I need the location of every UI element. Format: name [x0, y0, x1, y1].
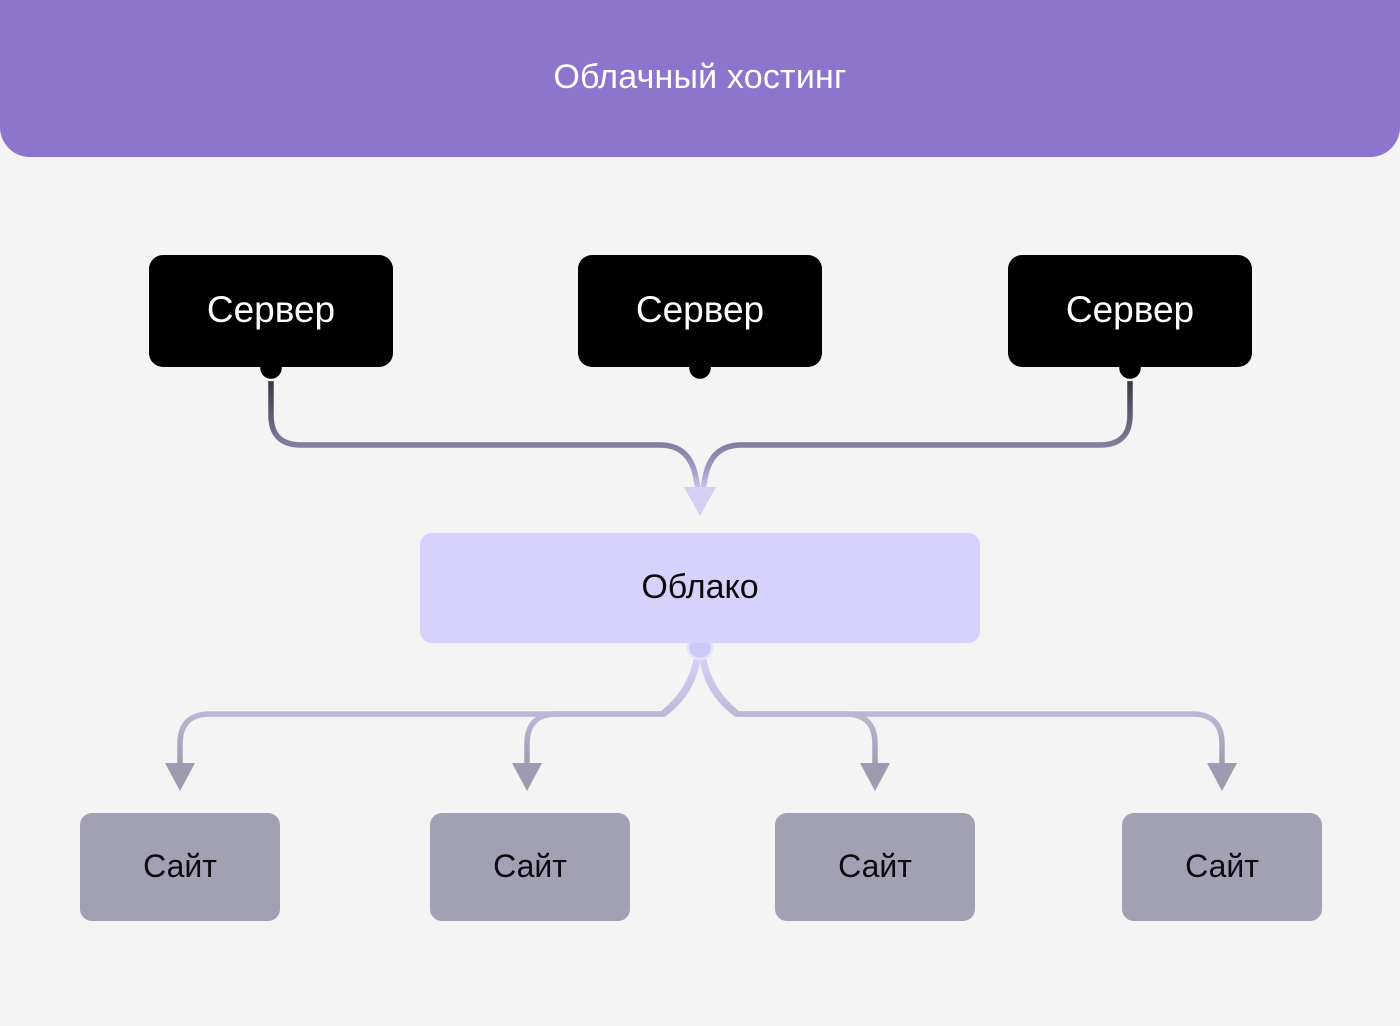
site-node-1-label: Сайт — [143, 850, 217, 885]
site-node-3-label: Сайт — [838, 850, 912, 885]
server-node-2-label: Сервер — [636, 291, 764, 331]
site-node-4-label: Сайт — [1185, 850, 1259, 885]
server-node-3[interactable]: Сервер — [1008, 255, 1252, 367]
cloud-node-label: Облако — [641, 570, 758, 607]
site-node-2-label: Сайт — [493, 850, 567, 885]
edge-server-3-to-cloud — [702, 369, 1130, 494]
server-node-2[interactable]: Сервер — [578, 255, 822, 367]
site-node-4[interactable]: Сайт — [1122, 813, 1322, 921]
page-title: Облачный хостинг — [553, 60, 846, 98]
site-node-3[interactable]: Сайт — [775, 813, 975, 921]
arrowhead-to-site-2 — [512, 763, 542, 791]
site-node-2[interactable]: Сайт — [430, 813, 630, 921]
arrowhead-to-site-3 — [860, 763, 890, 791]
edge-cloud-to-site-3 — [702, 656, 875, 768]
arrowhead-to-site-1 — [165, 763, 195, 791]
diagram-canvas: Облачный хостинг — [0, 0, 1400, 1026]
header-banner: Облачный хостинг — [0, 0, 1400, 157]
site-node-1[interactable]: Сайт — [80, 813, 280, 921]
edge-cloud-to-site-1 — [180, 655, 697, 768]
server-node-1[interactable]: Сервер — [149, 255, 393, 367]
server-node-1-label: Сервер — [207, 291, 335, 331]
edge-server-1-to-cloud — [271, 369, 699, 494]
arrowhead-to-site-4 — [1207, 763, 1237, 791]
arrowhead-to-cloud — [684, 487, 716, 516]
edge-cloud-to-site-4 — [703, 655, 1222, 768]
cloud-node[interactable]: Облако — [420, 533, 980, 643]
server-node-3-label: Сервер — [1066, 291, 1194, 331]
edge-cloud-to-site-2 — [527, 656, 698, 768]
